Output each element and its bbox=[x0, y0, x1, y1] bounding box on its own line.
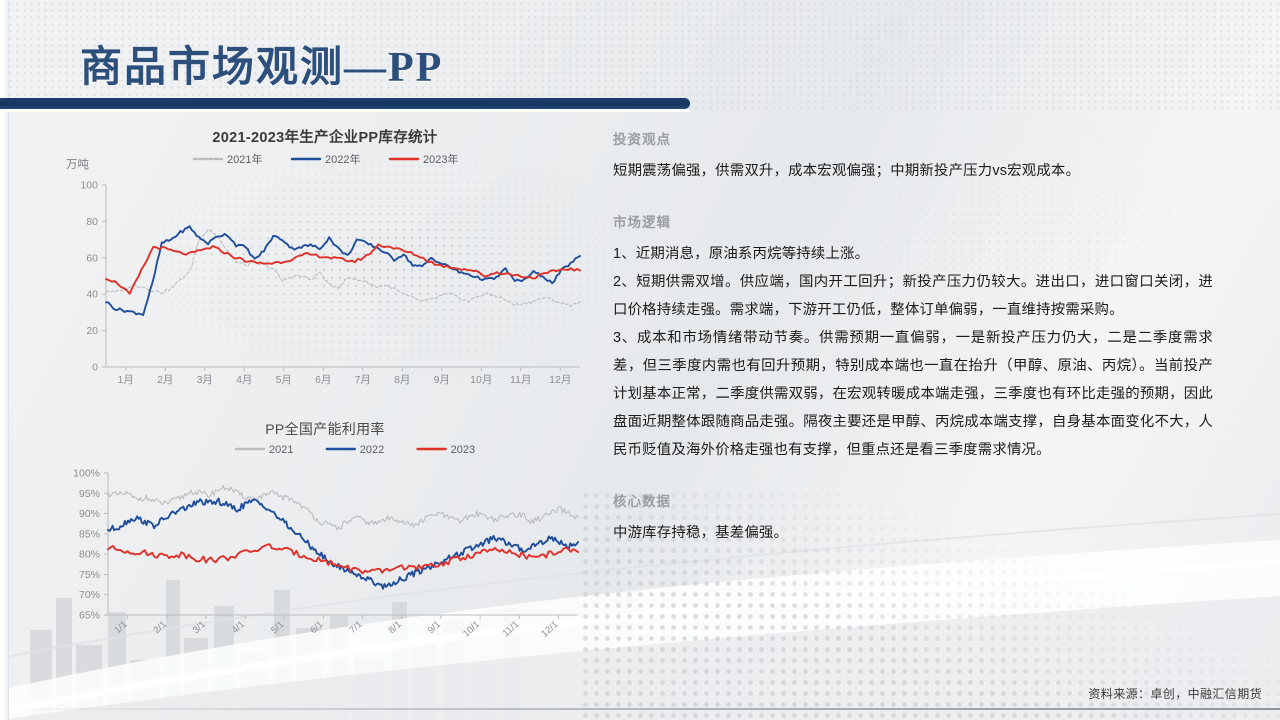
chart-1-inventory-line-chart: 0204060801001月2月3月4月5月6月7月8月9月10月11月12月2… bbox=[60, 147, 590, 399]
svg-text:5/1: 5/1 bbox=[269, 619, 286, 636]
svg-text:100%: 100% bbox=[73, 468, 100, 480]
svg-text:11/1: 11/1 bbox=[501, 619, 522, 639]
svg-text:95%: 95% bbox=[79, 488, 100, 500]
svg-text:85%: 85% bbox=[79, 528, 100, 540]
svg-text:100: 100 bbox=[80, 180, 98, 192]
header-accent-bar-highlight bbox=[0, 109, 690, 112]
source-note: 资料来源：卓创，中融汇信期货 bbox=[1088, 685, 1262, 702]
paragraph: 中游库存持稳，基差偏强。 bbox=[613, 519, 1213, 547]
section-body: 短期震荡偏强，供需双升，成本宏观偏强；中期新投产压力vs宏观成本。 bbox=[613, 157, 1213, 185]
svg-text:9月: 9月 bbox=[434, 374, 450, 386]
svg-text:20: 20 bbox=[86, 325, 98, 337]
svg-text:60: 60 bbox=[86, 252, 98, 264]
svg-text:80: 80 bbox=[86, 216, 98, 228]
footer-divider bbox=[0, 708, 1280, 710]
svg-text:5月: 5月 bbox=[276, 374, 292, 386]
section-market-logic: 市场逻辑 1、近期消息，原油系丙烷等持续上涨。 2、短期供需双增。供应端，国内开… bbox=[613, 211, 1213, 464]
section-investment-view: 投资观点 短期震荡偏强，供需双升，成本宏观偏强；中期新投产压力vs宏观成本。 bbox=[613, 128, 1213, 185]
svg-text:80%: 80% bbox=[79, 549, 100, 561]
svg-text:11月: 11月 bbox=[510, 374, 531, 386]
section-body: 1、近期消息，原油系丙烷等持续上涨。 2、短期供需双增。供应端，国内开工回升；新… bbox=[613, 240, 1213, 464]
svg-text:10/1: 10/1 bbox=[461, 619, 482, 640]
header-accent-bar bbox=[0, 98, 690, 109]
paragraph: 1、近期消息，原油系丙烷等持续上涨。 bbox=[613, 240, 1213, 268]
svg-text:2023年: 2023年 bbox=[423, 152, 458, 166]
svg-text:40: 40 bbox=[86, 289, 98, 301]
svg-text:12月: 12月 bbox=[549, 374, 571, 386]
svg-text:8/1: 8/1 bbox=[387, 619, 404, 636]
svg-text:2021: 2021 bbox=[269, 444, 293, 456]
paragraph: 短期震荡偏强，供需双升，成本宏观偏强；中期新投产压力vs宏观成本。 bbox=[613, 157, 1213, 185]
svg-text:12/1: 12/1 bbox=[539, 619, 560, 640]
paragraph: 3、成本和市场情绪带动节奏。供需预期一直偏弱，一是新投产压力仍大，二是二季度需求… bbox=[613, 324, 1213, 464]
svg-text:75%: 75% bbox=[79, 569, 100, 581]
svg-text:1月: 1月 bbox=[118, 374, 134, 386]
svg-text:4月: 4月 bbox=[236, 374, 252, 386]
svg-text:2月: 2月 bbox=[157, 374, 173, 386]
page-title: 商品市场观测—PP bbox=[80, 33, 443, 94]
svg-text:8月: 8月 bbox=[394, 374, 410, 386]
svg-text:7/1: 7/1 bbox=[347, 619, 364, 636]
svg-text:10月: 10月 bbox=[470, 374, 492, 386]
svg-text:70%: 70% bbox=[79, 589, 100, 601]
svg-text:6月: 6月 bbox=[315, 374, 331, 386]
svg-text:6/1: 6/1 bbox=[308, 619, 325, 636]
svg-text:2/1: 2/1 bbox=[152, 619, 169, 636]
commentary-panel: 投资观点 短期震荡偏强，供需双升，成本宏观偏强；中期新投产压力vs宏观成本。 市… bbox=[613, 128, 1213, 565]
paragraph: 2、短期供需双增。供应端，国内开工回升；新投产压力仍较大。进出口，进口窗口关闭，… bbox=[613, 268, 1213, 324]
section-heading: 投资观点 bbox=[613, 128, 1213, 148]
svg-text:1/1: 1/1 bbox=[112, 619, 129, 636]
svg-text:65%: 65% bbox=[79, 610, 100, 622]
svg-text:2022年: 2022年 bbox=[325, 152, 360, 166]
section-body: 中游库存持稳，基差偏强。 bbox=[613, 519, 1213, 547]
slide-canvas: 商品市场观测—PP 2021-2023年生产企业PP库存统计 万吨 020406… bbox=[0, 0, 1280, 720]
charts-column: 2021-2023年生产企业PP库存统计 万吨 0204060801001月2月… bbox=[60, 126, 590, 655]
svg-text:2023: 2023 bbox=[451, 444, 475, 456]
section-core-data: 核心数据 中游库存持稳，基差偏强。 bbox=[613, 490, 1213, 547]
chart-1-y-unit-label: 万吨 bbox=[66, 156, 89, 172]
chart-2-title: PP全国产能利用率 bbox=[60, 419, 590, 439]
section-heading: 市场逻辑 bbox=[613, 211, 1213, 231]
svg-text:4/1: 4/1 bbox=[230, 619, 247, 636]
svg-text:7月: 7月 bbox=[355, 374, 371, 386]
svg-text:90%: 90% bbox=[79, 508, 100, 520]
svg-text:3月: 3月 bbox=[197, 374, 213, 386]
svg-text:3/1: 3/1 bbox=[191, 619, 208, 636]
chart-2-utilization-line-chart: 65%70%75%80%85%90%95%100%1/12/13/14/15/1… bbox=[60, 439, 590, 655]
section-heading: 核心数据 bbox=[613, 490, 1213, 510]
svg-text:2021年: 2021年 bbox=[227, 152, 262, 166]
svg-text:9/1: 9/1 bbox=[426, 619, 443, 636]
svg-text:0: 0 bbox=[92, 362, 98, 374]
svg-text:2022: 2022 bbox=[360, 444, 384, 456]
chart-1-title: 2021-2023年生产企业PP库存统计 bbox=[60, 126, 590, 147]
